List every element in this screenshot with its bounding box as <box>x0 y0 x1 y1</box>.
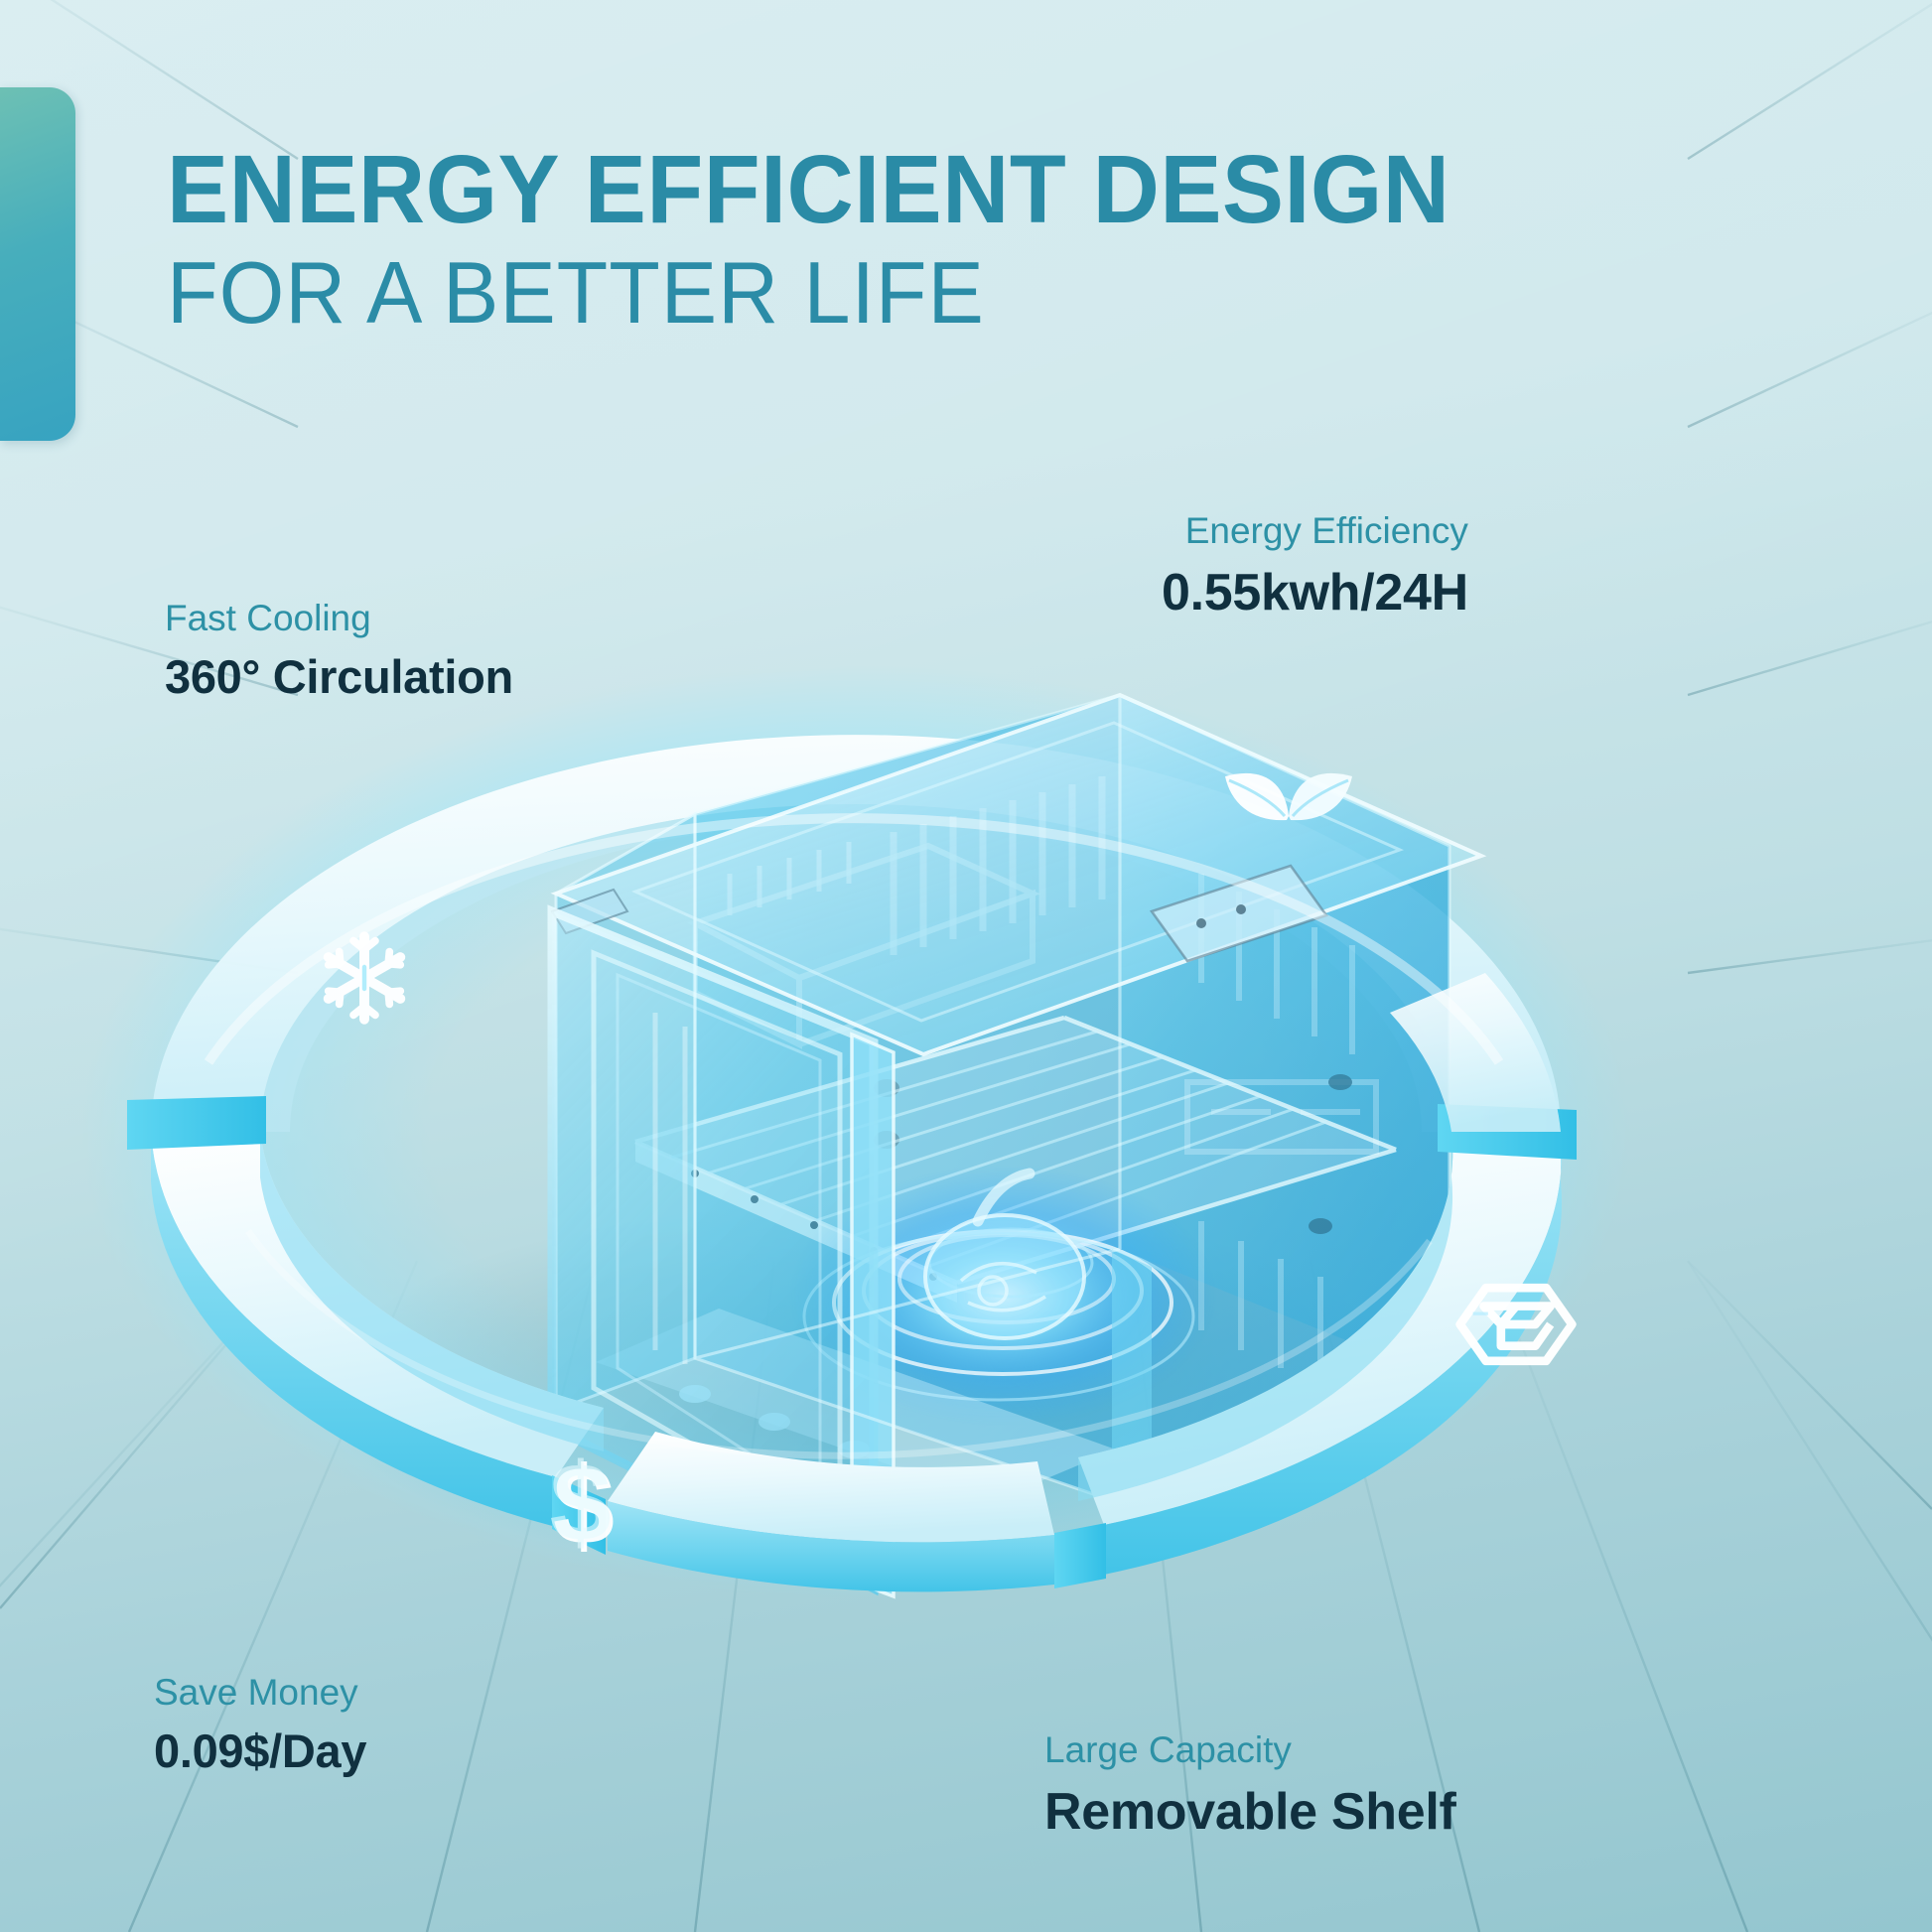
title-line-1: ENERGY EFFICIENT DESIGN <box>167 141 1449 239</box>
feature-label: Save Money <box>154 1670 366 1716</box>
feature-energy-efficiency: Energy Efficiency 0.55kwh/24H <box>1162 508 1468 625</box>
feature-value: 360° Circulation <box>165 648 513 707</box>
poster-canvas: ENERGY EFFICIENT DESIGN FOR A BETTER LIF… <box>0 0 1932 1932</box>
svg-text:$: $ <box>549 1442 611 1564</box>
snowflake-icon <box>310 923 419 1033</box>
feature-value: Removable Shelf <box>1044 1780 1456 1845</box>
feature-value: 0.09$/Day <box>154 1723 366 1781</box>
feature-label: Energy Efficiency <box>1162 508 1468 554</box>
feature-fast-cooling: Fast Cooling 360° Circulation <box>165 596 513 707</box>
leaf-icon <box>1219 759 1358 842</box>
title-line-2: FOR A BETTER LIFE <box>167 245 1449 342</box>
feature-large-capacity: Large Capacity Removable Shelf <box>1044 1727 1456 1845</box>
feature-label: Large Capacity <box>1044 1727 1456 1773</box>
feature-save-money: Save Money 0.09$/Day <box>154 1670 366 1781</box>
cube-icon <box>1451 1269 1581 1380</box>
feature-value: 0.55kwh/24H <box>1162 561 1468 625</box>
page-title: ENERGY EFFICIENT DESIGN FOR A BETTER LIF… <box>167 141 1503 342</box>
feature-label: Fast Cooling <box>165 596 513 641</box>
dollar-icon: $ $ <box>536 1442 631 1569</box>
left-accent-bar <box>0 87 75 441</box>
